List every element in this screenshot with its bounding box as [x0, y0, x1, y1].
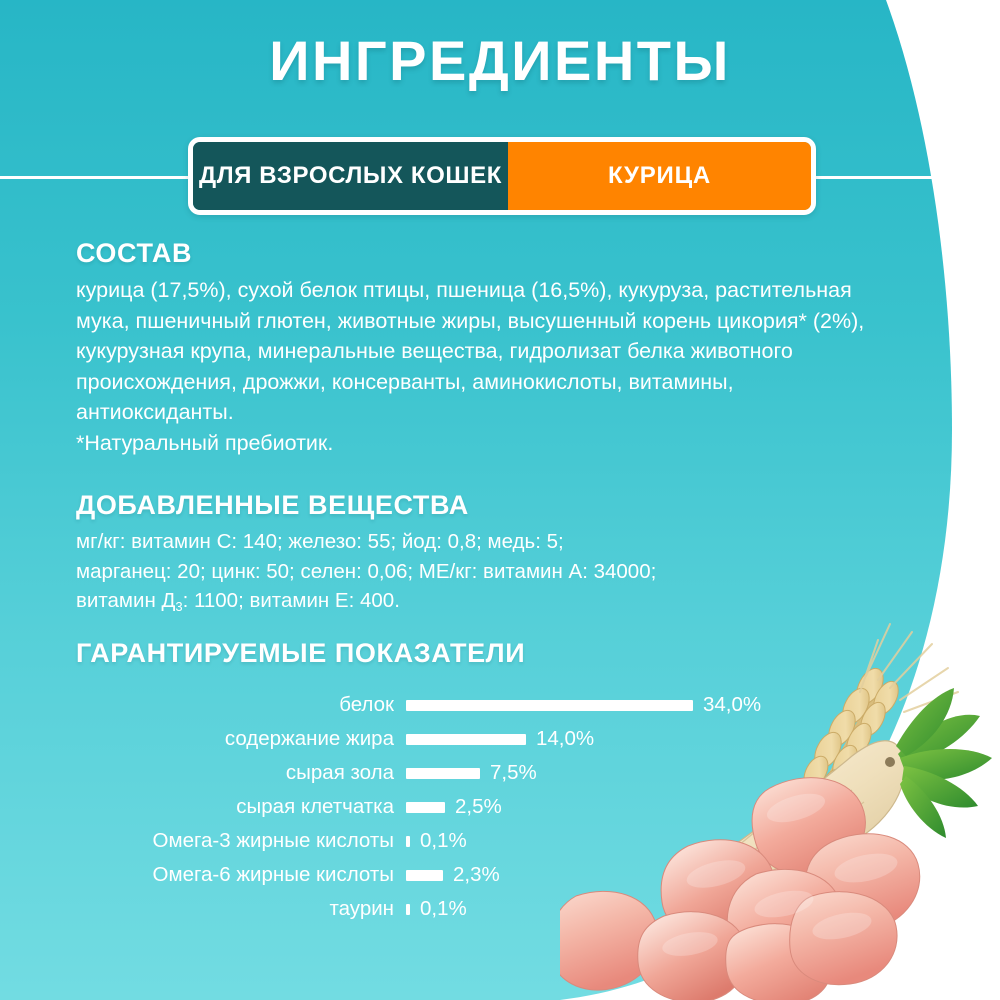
chart-bar-wrap: 0,1%	[406, 899, 876, 920]
additives-block: ДОБАВЛЕННЫЕ ВЕЩЕСТВА мг/кг: витамин С: 1…	[76, 490, 876, 616]
chart-bar	[406, 836, 410, 847]
chart-value-label: 2,5%	[455, 797, 502, 818]
additives-line-3: витамин Д3: 1100; витамин Е: 400.	[76, 586, 876, 616]
chart-value-label: 7,5%	[490, 763, 537, 784]
chart-bar	[406, 904, 410, 915]
chart-bar-wrap: 2,3%	[406, 865, 876, 886]
chart-bar-wrap: 2,5%	[406, 797, 876, 818]
product-badge: ДЛЯ ВЗРОСЛЫХ КОШЕК КУРИЦА	[188, 137, 816, 215]
chart-bar-wrap: 34,0%	[406, 695, 876, 716]
composition-footnote: *Натуральный пребиотик.	[76, 428, 876, 459]
chart-row-label: сырая клетчатка	[76, 797, 406, 818]
guaranteed-heading: ГАРАНТИРУЕМЫЕ ПОКАЗАТЕЛИ	[76, 638, 876, 669]
composition-heading: СОСТАВ	[76, 238, 876, 269]
chart-row: Омега-6 жирные кислоты2,3%	[76, 858, 876, 892]
badge-flavor-label: КУРИЦА	[508, 142, 811, 210]
chart-row-label: сырая зола	[76, 763, 406, 784]
additives-line-2: марганец: 20; цинк: 50; селен: 0,06; МЕ/…	[76, 557, 876, 587]
chart-value-label: 14,0%	[536, 729, 594, 750]
chart-bar-wrap: 0,1%	[406, 831, 876, 852]
additives-line-1: мг/кг: витамин С: 140; железо: 55; йод: …	[76, 527, 876, 557]
chart-row: сырая зола7,5%	[76, 756, 876, 790]
chart-bar-wrap: 14,0%	[406, 729, 876, 750]
chart-row-label: таурин	[76, 899, 406, 920]
chart-row-label: содержание жира	[76, 729, 406, 750]
additives-heading: ДОБАВЛЕННЫЕ ВЕЩЕСТВА	[76, 490, 876, 521]
vitamin-d-prefix: витамин Д	[76, 589, 175, 612]
chart-row-label: Омега-3 жирные кислоты	[76, 831, 406, 852]
chart-bar	[406, 700, 693, 711]
chart-row-label: Омега-6 жирные кислоты	[76, 865, 406, 886]
vitamin-d-subscript: 3	[175, 599, 182, 614]
composition-text: курица (17,5%), сухой белок птицы, пшени…	[76, 275, 876, 428]
chart-bar-wrap: 7,5%	[406, 763, 876, 784]
ingredients-panel: ИНГРЕДИЕНТЫ ДЛЯ ВЗРОСЛЫХ КОШЕК КУРИЦА СО…	[0, 0, 1000, 1000]
chart-value-label: 0,1%	[420, 831, 467, 852]
green-herbs-icon	[896, 688, 992, 838]
chart-row: содержание жира14,0%	[76, 722, 876, 756]
badge-audience-label: ДЛЯ ВЗРОСЛЫХ КОШЕК	[193, 142, 508, 210]
vitamin-d-suffix: : 1100; витамин Е: 400.	[183, 589, 400, 612]
composition-block: СОСТАВ курица (17,5%), сухой белок птицы…	[76, 238, 876, 458]
guaranteed-block: ГАРАНТИРУЕМЫЕ ПОКАЗАТЕЛИ белок34,0%содер…	[76, 638, 876, 675]
chart-bar	[406, 802, 445, 813]
chart-row: сырая клетчатка2,5%	[76, 790, 876, 824]
chart-row: белок34,0%	[76, 688, 876, 722]
chart-value-label: 2,3%	[453, 865, 500, 886]
chart-bar	[406, 768, 480, 779]
chart-bar	[406, 870, 443, 881]
page-title: ИНГРЕДИЕНТЫ	[0, 33, 1000, 89]
chart-row: Омега-3 жирные кислоты0,1%	[76, 824, 876, 858]
chart-row: таурин0,1%	[76, 892, 876, 926]
chart-value-label: 0,1%	[420, 899, 467, 920]
chart-value-label: 34,0%	[703, 695, 761, 716]
chart-bar	[406, 734, 526, 745]
chart-row-label: белок	[76, 695, 406, 716]
guaranteed-bar-chart: белок34,0%содержание жира14,0%сырая зола…	[76, 688, 876, 926]
